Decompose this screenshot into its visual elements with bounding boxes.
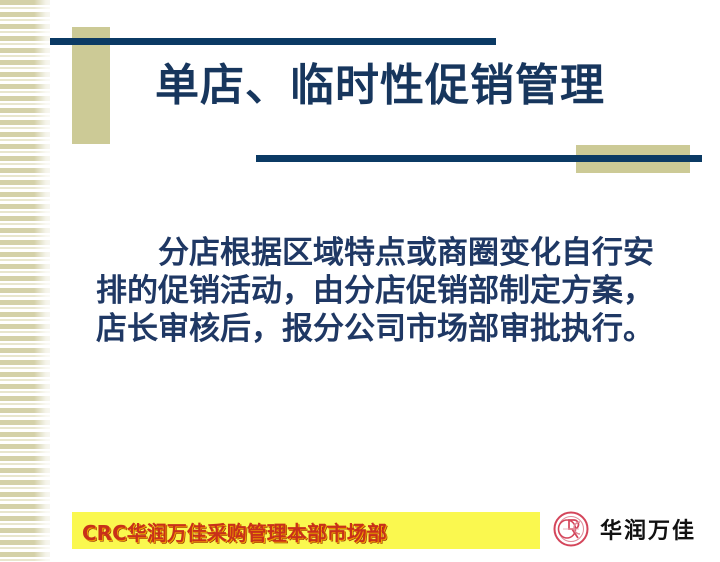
body-line-3: 店长审核后，报分公司市场部审批执行。 xyxy=(96,310,696,348)
brand-name-text: 华润万佳 xyxy=(600,513,696,545)
left-stripe-fade-overlay xyxy=(34,0,60,562)
middle-blue-rule xyxy=(256,155,702,162)
slide-title: 单店、临时性促销管理 xyxy=(60,62,700,110)
body-line-2: 排的促销活动，由分店促销部制定方案， xyxy=(96,272,696,310)
slide-body-text: 分店根据区域特点或商圈变化自行安 排的促销活动，由分店促销部制定方案， 店长审核… xyxy=(96,234,696,348)
body-line-1-text: 分店根据区域特点或商圈变化自行安 xyxy=(158,235,654,271)
footer-department-text: CRC华润万佳采购管理本部市场部 xyxy=(82,517,387,546)
crc-logo-icon xyxy=(552,510,590,548)
slide-canvas: 单店、临时性促销管理 分店根据区域特点或商圈变化自行安 排的促销活动，由分店促销… xyxy=(0,0,720,562)
top-blue-rule xyxy=(50,38,496,45)
body-line-1: 分店根据区域特点或商圈变化自行安 xyxy=(96,234,696,272)
brand-logo-group: 华润万佳 xyxy=(552,510,696,548)
